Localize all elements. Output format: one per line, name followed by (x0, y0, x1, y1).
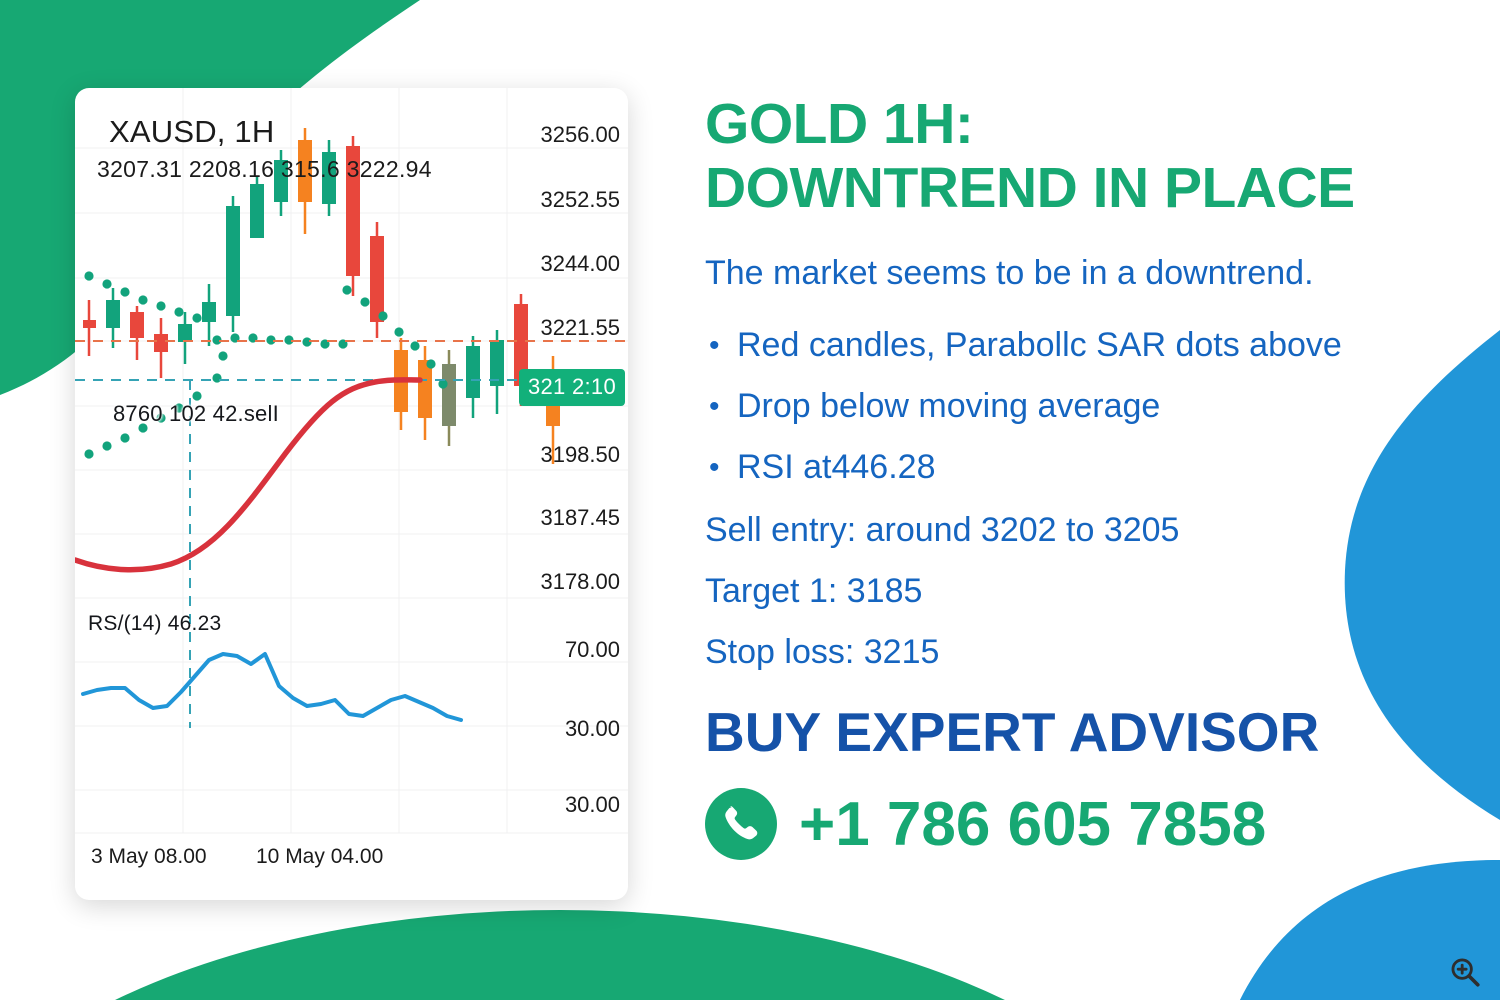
headline-line-2: DOWNTREND IN PLACE (705, 156, 1500, 220)
summary-text: The market seems to be in a downtrend. (705, 252, 1485, 294)
zoom-in-icon[interactable] (1448, 955, 1482, 989)
contact-row[interactable]: +1 786 605 7858 (705, 788, 1266, 860)
list-item: Red candles, Parabollc SAR dots above (705, 315, 1495, 376)
phone-number[interactable]: +1 786 605 7858 (799, 789, 1266, 860)
rsi-tick-30b: 30.00 (565, 792, 620, 818)
list-item: RSI at446.28 (705, 437, 1495, 498)
buy-expert-advisor-cta[interactable]: BUY EXPERT ADVISOR (705, 700, 1319, 764)
symbol-title: XAUSD, 1H (109, 114, 274, 150)
rsi-tick-70: 70.00 (565, 637, 620, 663)
list-item: Drop below moving average (705, 376, 1495, 437)
rsi-line (83, 654, 461, 720)
price-tick-3: 3221.55 (540, 315, 620, 341)
ohlc-values: 3207.31 2208.16 315.6 3222.94 (97, 156, 432, 183)
poster-canvas: XAUSD, 1H 3207.31 2208.16 315.6 3222.94 … (0, 0, 1500, 1000)
date-tick-0: 3 May 08.00 (91, 845, 207, 869)
parabolic-sar-dots (84, 271, 447, 458)
price-axis: 3256.00 3252.55 3244.00 3221.55 3198.50 … (513, 88, 628, 900)
stop-loss-text: Stop loss: 3215 (705, 622, 1495, 683)
phone-icon (705, 788, 777, 860)
promo-panel: GOLD 1H: DOWNTREND IN PLACE The market s… (705, 0, 1500, 1000)
price-tick-1: 3252.55 (540, 187, 620, 213)
trade-levels: Sell entry: around 3202 to 3205 Target 1… (705, 500, 1495, 683)
date-tick-1: 10 May 04.00 (256, 845, 383, 869)
price-tick-4: 3198.50 (540, 442, 620, 468)
sell-entry-text: Sell entry: around 3202 to 3205 (705, 500, 1495, 561)
headline-line-1: GOLD 1H: (705, 92, 973, 156)
price-tick-2: 3244.00 (540, 251, 620, 277)
price-tick-6: 3178.00 (540, 569, 620, 595)
signal-bullet-list: Red candles, Parabollc SAR dots above Dr… (705, 315, 1495, 498)
chart-plot-area: XAUSD, 1H 3207.31 2208.16 315.6 3222.94 … (75, 88, 628, 900)
price-tick-0: 3256.00 (540, 122, 620, 148)
rsi-tick-30a: 30.00 (565, 716, 620, 742)
current-price-badge[interactable]: 321 2:10 (519, 369, 625, 406)
rsi-indicator-label: RS/(14) 46.23 (88, 612, 221, 636)
page-title: GOLD 1H: DOWNTREND IN PLACE (705, 92, 1500, 220)
sell-order-label: 8760 102 42.selI (113, 401, 279, 427)
chart-card: XAUSD, 1H 3207.31 2208.16 315.6 3222.94 … (75, 88, 628, 900)
price-tick-5: 3187.45 (540, 505, 620, 531)
target-text: Target 1: 3185 (705, 561, 1495, 622)
